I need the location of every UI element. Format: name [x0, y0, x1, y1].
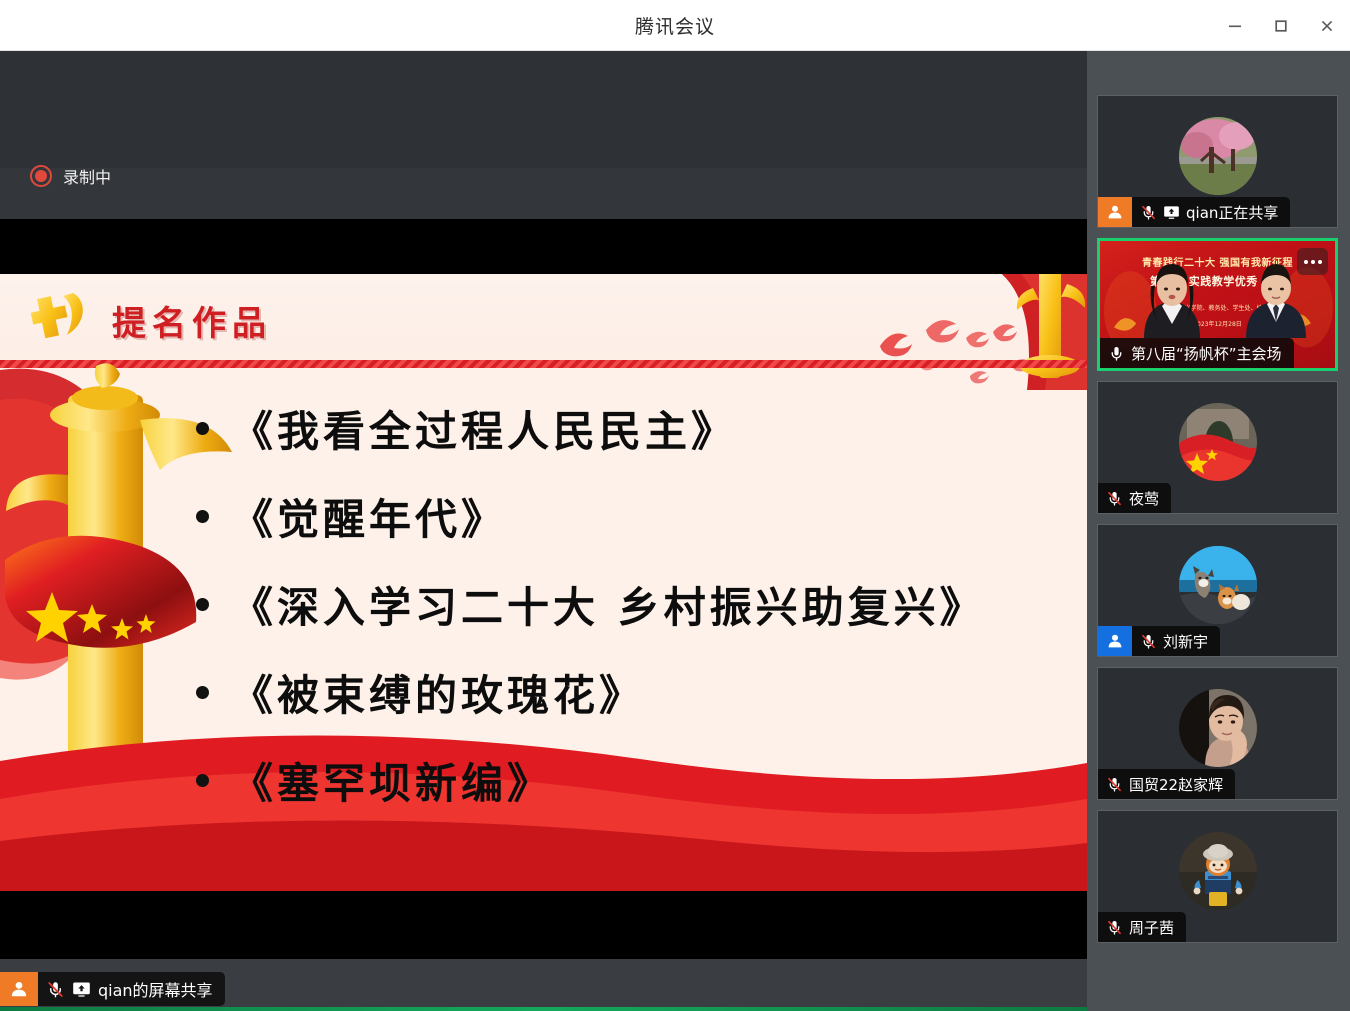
- recording-indicator: 录制中: [30, 164, 111, 188]
- presenter-left: [1136, 262, 1208, 338]
- window-controls: [1212, 0, 1350, 51]
- mic-off-icon: [46, 980, 65, 999]
- avatar: [1179, 832, 1257, 910]
- window-title: 腾讯会议: [635, 12, 715, 39]
- letterbox-top-bar: [0, 219, 1087, 274]
- screen-share-icon: [72, 981, 91, 998]
- party-emblem-icon: [27, 287, 99, 349]
- participant-label-body: 夜莺: [1098, 483, 1171, 513]
- chinese-flag-photo: [1179, 403, 1257, 481]
- participant-name: 刘新宇: [1163, 631, 1208, 652]
- mic-off-icon: [1106, 776, 1123, 793]
- participant-label: qian正在共享: [1098, 197, 1290, 227]
- bullet-dot-icon: [196, 598, 209, 611]
- avatar: [1179, 117, 1257, 195]
- mic-off-icon: [1106, 919, 1123, 936]
- cats-on-beach-photo: [1179, 546, 1257, 624]
- participant-name: 夜莺: [1129, 488, 1159, 509]
- slide-title: 提名作品: [112, 296, 272, 345]
- stage-bottom-accent: [0, 1007, 1087, 1011]
- close-icon: [1319, 18, 1335, 34]
- list-item: 《塞罕坝新编》: [196, 736, 1056, 824]
- avatar: [1179, 689, 1257, 767]
- participant-tile-zhaojiahui[interactable]: 国贸22赵家辉: [1097, 667, 1338, 800]
- list-item: 《觉醒年代》: [196, 472, 1056, 560]
- participant-label-body: 刘新宇: [1132, 626, 1220, 656]
- participant-name: 国贸22赵家辉: [1129, 774, 1223, 795]
- host-badge-icon: [1098, 197, 1132, 227]
- list-item-label: 《我看全过程人民民主》: [231, 398, 737, 459]
- minimize-icon: [1227, 18, 1243, 34]
- participant-label-body: 周子茜: [1098, 912, 1186, 942]
- tencent-meeting-window: 腾讯会议: [0, 0, 1350, 1011]
- maximize-icon: [1273, 18, 1289, 34]
- screen-share-icon: [1163, 205, 1180, 220]
- knitted-doll-photo: [1179, 832, 1257, 910]
- title-bar: 腾讯会议: [0, 0, 1350, 51]
- participant-label: 周子茜: [1098, 912, 1186, 942]
- letterbox-bottom-bar: [0, 891, 1087, 959]
- participant-label: 第八届“扬帆杯”主会场: [1100, 338, 1294, 368]
- cherry-blossom-tree-photo: [1179, 117, 1257, 195]
- participant-tile-yeying[interactable]: 夜莺: [1097, 381, 1338, 514]
- recording-dot-icon: [30, 165, 52, 187]
- bullet-dot-icon: [196, 422, 209, 435]
- person-icon: [10, 980, 28, 998]
- participant-name: qian正在共享: [1186, 202, 1278, 223]
- close-button[interactable]: [1304, 0, 1350, 51]
- participant-tile-qian[interactable]: qian正在共享: [1097, 95, 1338, 228]
- minimize-button[interactable]: [1212, 0, 1258, 51]
- shared-screen-stage[interactable]: 录制中 提名作品: [0, 51, 1087, 1011]
- mic-on-icon: [1108, 345, 1125, 362]
- host-badge-icon: [0, 972, 38, 1006]
- meeting-body: 录制中 提名作品: [0, 51, 1350, 1011]
- participant-name: 周子茜: [1129, 917, 1174, 938]
- avatar: [1179, 546, 1257, 624]
- more-options-button[interactable]: [1297, 248, 1328, 275]
- avatar: [1179, 403, 1257, 481]
- participant-label: 国贸22赵家辉: [1098, 769, 1235, 799]
- participant-label-body: 国贸22赵家辉: [1098, 769, 1235, 799]
- cohost-badge-icon: [1098, 626, 1132, 656]
- list-item: 《我看全过程人民民主》: [196, 384, 1056, 472]
- list-item-label: 《塞罕坝新编》: [231, 750, 553, 811]
- person-icon: [1107, 633, 1123, 649]
- bullet-dot-icon: [196, 774, 209, 787]
- mic-off-icon: [1106, 490, 1123, 507]
- participant-name: 第八届“扬帆杯”主会场: [1131, 343, 1282, 364]
- maximize-button[interactable]: [1258, 0, 1304, 51]
- mic-off-icon: [1140, 204, 1157, 221]
- list-item-label: 《被束缚的玫瑰花》: [231, 662, 645, 723]
- participant-label-body: 第八届“扬帆杯”主会场: [1100, 338, 1294, 368]
- nominated-works-list: 《我看全过程人民民主》 《觉醒年代》 《深入学习二十大 乡村振兴助复兴》 《被束…: [196, 384, 1056, 824]
- participant-label: 刘新宇: [1098, 626, 1220, 656]
- bullet-dot-icon: [196, 686, 209, 699]
- list-item-label: 《深入学习二十大 乡村振兴助复兴》: [231, 574, 986, 635]
- stage-top-strip: [0, 51, 1087, 168]
- list-item: 《深入学习二十大 乡村振兴助复兴》: [196, 560, 1056, 648]
- list-item: 《被束缚的玫瑰花》: [196, 648, 1056, 736]
- list-item-label: 《觉醒年代》: [231, 486, 507, 547]
- participant-tile-main-venue[interactable]: 青春践行二十大 强国有我新征程 第八届 实践教学优秀 大赛 马克思主义学院、教务…: [1097, 238, 1338, 371]
- screen-share-label: qian的屏幕共享: [0, 972, 225, 1006]
- screen-share-label-body: qian的屏幕共享: [38, 972, 225, 1006]
- person-icon: [1107, 204, 1123, 220]
- screen-share-label-text: qian的屏幕共享: [98, 977, 213, 1001]
- young-man-portrait-photo: [1179, 689, 1257, 767]
- right-gold-ornament: [987, 274, 1087, 390]
- participants-rail[interactable]: qian正在共享: [1087, 51, 1350, 1011]
- participant-tile-zhouzixi[interactable]: 周子茜: [1097, 810, 1338, 943]
- presentation-slide: 提名作品: [0, 274, 1087, 891]
- participant-label: 夜莺: [1098, 483, 1171, 513]
- mic-off-icon: [1140, 633, 1157, 650]
- recording-label: 录制中: [63, 164, 111, 188]
- bullet-dot-icon: [196, 510, 209, 523]
- participant-tile-liuxinyu[interactable]: 刘新宇: [1097, 524, 1338, 657]
- participant-label-body: qian正在共享: [1132, 197, 1290, 227]
